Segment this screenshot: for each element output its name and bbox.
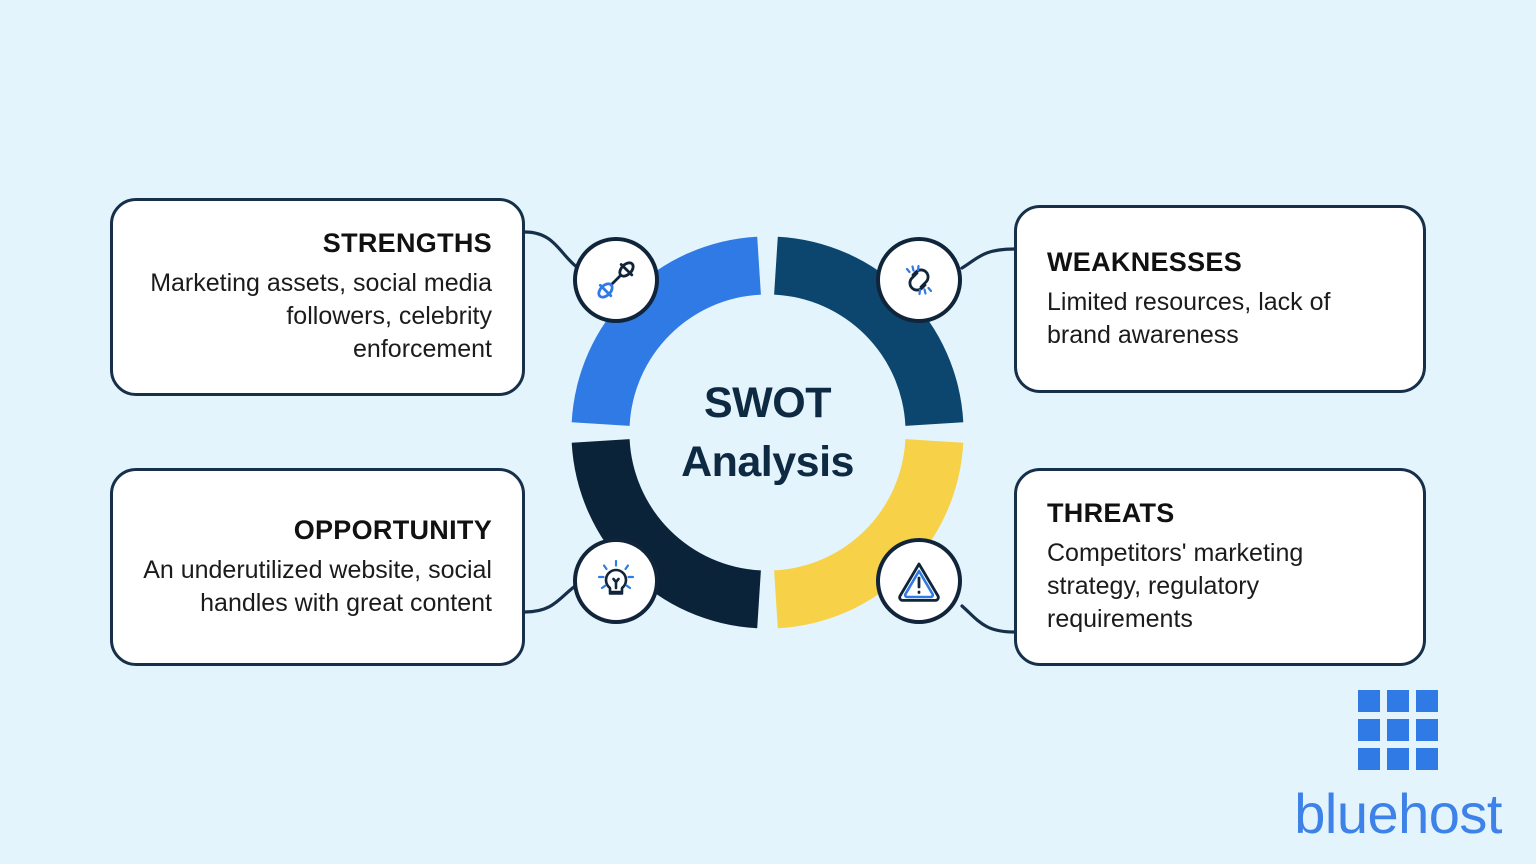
lightbulb-icon-badge[interactable] <box>573 538 659 624</box>
card-threats-body: Competitors' marketing strategy, regulat… <box>1047 537 1393 636</box>
card-opportunity-title: OPPORTUNITY <box>143 515 492 546</box>
center-title-line2: Analysis <box>681 433 854 491</box>
broken-link-icon-badge[interactable] <box>876 237 962 323</box>
logo-cell <box>1387 719 1409 741</box>
card-opportunity[interactable]: OPPORTUNITY An underutilized website, so… <box>110 468 525 666</box>
card-weaknesses-body: Limited resources, lack of brand awarene… <box>1047 286 1393 352</box>
logo-cell <box>1387 690 1409 712</box>
bluehost-grid-icon <box>1358 690 1438 770</box>
card-strengths-body: Marketing assets, social media followers… <box>143 267 492 366</box>
card-weaknesses-title: WEAKNESSES <box>1047 247 1393 278</box>
card-threats[interactable]: THREATS Competitors' marketing strategy,… <box>1014 468 1426 666</box>
logo-cell <box>1358 690 1380 712</box>
logo-cell <box>1416 719 1438 741</box>
logo-cell <box>1358 748 1380 770</box>
card-strengths[interactable]: STRENGTHS Marketing assets, social media… <box>110 198 525 396</box>
bluehost-logo: bluehost <box>1294 690 1502 842</box>
swot-diagram: SWOT Analysis STRENGTHS Marketing assets… <box>0 0 1536 864</box>
card-strengths-title: STRENGTHS <box>143 228 492 259</box>
center-title-line1: SWOT <box>704 374 831 432</box>
bluehost-wordmark: bluehost <box>1294 786 1502 842</box>
dumbbell-icon-badge[interactable] <box>573 237 659 323</box>
logo-cell <box>1416 690 1438 712</box>
card-threats-title: THREATS <box>1047 498 1393 529</box>
warning-triangle-icon <box>894 556 944 606</box>
logo-cell <box>1358 719 1380 741</box>
logo-cell <box>1416 748 1438 770</box>
dumbbell-icon <box>591 255 641 305</box>
broken-link-icon <box>894 255 944 305</box>
lightbulb-icon <box>591 556 641 606</box>
logo-cell <box>1387 748 1409 770</box>
card-weaknesses[interactable]: WEAKNESSES Limited resources, lack of br… <box>1014 205 1426 393</box>
card-opportunity-body: An underutilized website, social handles… <box>143 554 492 620</box>
warning-triangle-icon-badge[interactable] <box>876 538 962 624</box>
